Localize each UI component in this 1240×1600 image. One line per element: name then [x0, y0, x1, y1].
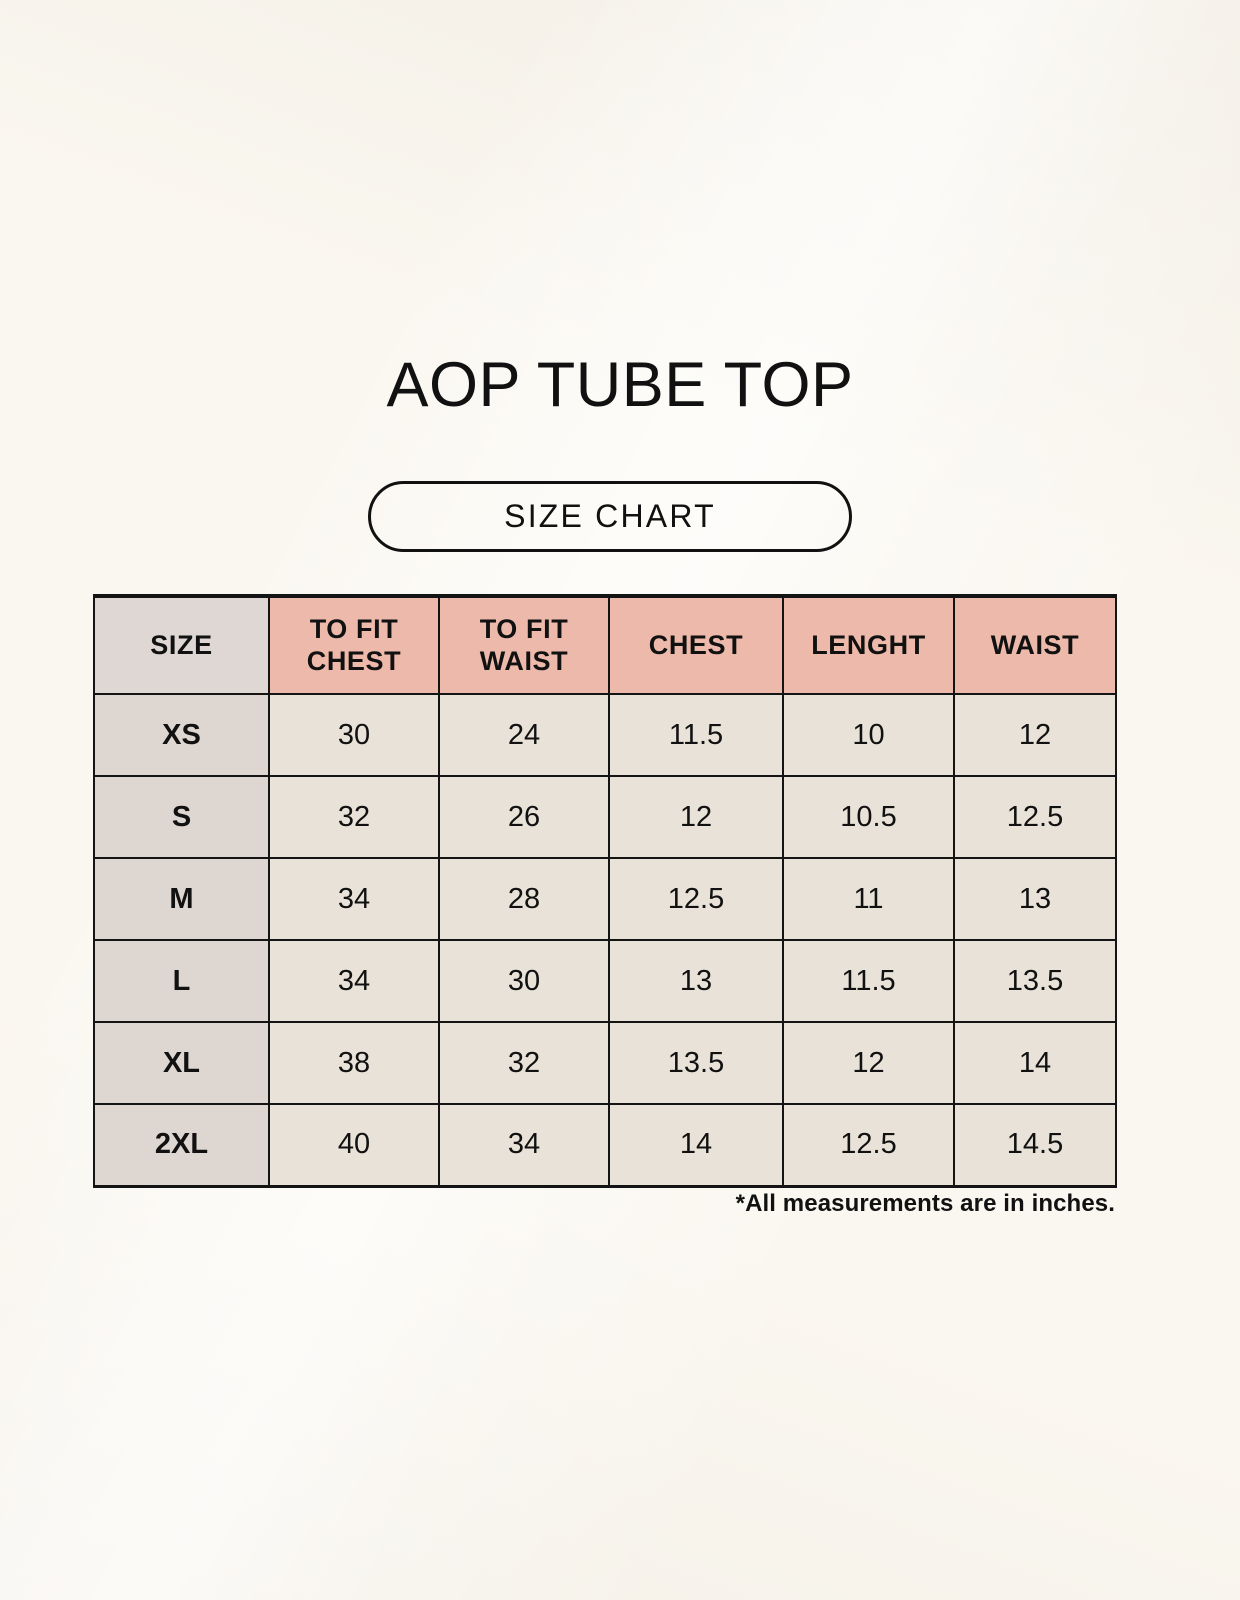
- cell-to-fit-waist: 32: [439, 1022, 609, 1104]
- cell-to-fit-waist: 28: [439, 858, 609, 940]
- cell-to-fit-waist: 30: [439, 940, 609, 1022]
- column-header-to-fit-waist: TO FIT WAIST: [439, 596, 609, 694]
- cell-length: 12: [783, 1022, 954, 1104]
- table-row: L 34 30 13 11.5 13.5: [94, 940, 1116, 1022]
- cell-waist: 13: [954, 858, 1116, 940]
- size-table-container: SIZE TO FIT CHEST TO FIT WAIST CHEST LEN: [93, 594, 1115, 1188]
- cell-size: XS: [94, 694, 269, 776]
- cell-size: M: [94, 858, 269, 940]
- cell-to-fit-chest: 34: [269, 940, 439, 1022]
- table-row: S 32 26 12 10.5 12.5: [94, 776, 1116, 858]
- column-header-to-fit-chest-line1: TO FIT: [310, 614, 399, 644]
- table-row: M 34 28 12.5 11 13: [94, 858, 1116, 940]
- column-header-to-fit-waist-line1: TO FIT: [480, 614, 569, 644]
- cell-size: S: [94, 776, 269, 858]
- cell-waist: 14.5: [954, 1104, 1116, 1186]
- cell-to-fit-waist: 26: [439, 776, 609, 858]
- cell-waist: 12.5: [954, 776, 1116, 858]
- cell-chest: 11.5: [609, 694, 783, 776]
- cell-chest: 13: [609, 940, 783, 1022]
- table-row: XL 38 32 13.5 12 14: [94, 1022, 1116, 1104]
- size-table-body: XS 30 24 11.5 10 12 S 32 26 12 10.5 12.5…: [94, 694, 1116, 1186]
- cell-chest: 12: [609, 776, 783, 858]
- cell-chest: 12.5: [609, 858, 783, 940]
- column-header-to-fit-waist-line2: WAIST: [480, 646, 569, 676]
- cell-to-fit-chest: 34: [269, 858, 439, 940]
- cell-waist: 13.5: [954, 940, 1116, 1022]
- column-header-waist-line1: WAIST: [991, 630, 1080, 660]
- cell-size: 2XL: [94, 1104, 269, 1186]
- column-header-size: SIZE: [94, 596, 269, 694]
- cell-to-fit-chest: 38: [269, 1022, 439, 1104]
- cell-to-fit-waist: 24: [439, 694, 609, 776]
- column-header-chest-line1: CHEST: [649, 630, 744, 660]
- cell-length: 11.5: [783, 940, 954, 1022]
- column-header-waist: WAIST: [954, 596, 1116, 694]
- column-header-chest: CHEST: [609, 596, 783, 694]
- size-table: SIZE TO FIT CHEST TO FIT WAIST CHEST LEN: [93, 594, 1117, 1188]
- cell-waist: 12: [954, 694, 1116, 776]
- size-chart-page: AOP TUBE TOP SIZE CHART SIZE TO FIT: [0, 0, 1240, 1600]
- cell-to-fit-chest: 40: [269, 1104, 439, 1186]
- size-chart-badge-label: SIZE CHART: [504, 498, 716, 535]
- column-header-length-line1: LENGHT: [811, 630, 926, 660]
- column-header-to-fit-chest: TO FIT CHEST: [269, 596, 439, 694]
- cell-waist: 14: [954, 1022, 1116, 1104]
- cell-size: L: [94, 940, 269, 1022]
- cell-length: 10: [783, 694, 954, 776]
- cell-to-fit-waist: 34: [439, 1104, 609, 1186]
- table-header-row: SIZE TO FIT CHEST TO FIT WAIST CHEST LEN: [94, 596, 1116, 694]
- cell-chest: 13.5: [609, 1022, 783, 1104]
- cell-to-fit-chest: 30: [269, 694, 439, 776]
- cell-to-fit-chest: 32: [269, 776, 439, 858]
- page-title: AOP TUBE TOP: [0, 352, 1240, 418]
- cell-length: 10.5: [783, 776, 954, 858]
- measurements-note: *All measurements are in inches.: [93, 1190, 1115, 1218]
- cell-length: 11: [783, 858, 954, 940]
- cell-length: 12.5: [783, 1104, 954, 1186]
- table-row: 2XL 40 34 14 12.5 14.5: [94, 1104, 1116, 1186]
- column-header-to-fit-chest-line2: CHEST: [307, 646, 402, 676]
- column-header-size-line1: SIZE: [150, 630, 212, 660]
- cell-size: XL: [94, 1022, 269, 1104]
- cell-chest: 14: [609, 1104, 783, 1186]
- column-header-length: LENGHT: [783, 596, 954, 694]
- size-chart-badge: SIZE CHART: [368, 481, 852, 552]
- size-table-head: SIZE TO FIT CHEST TO FIT WAIST CHEST LEN: [94, 596, 1116, 694]
- table-row: XS 30 24 11.5 10 12: [94, 694, 1116, 776]
